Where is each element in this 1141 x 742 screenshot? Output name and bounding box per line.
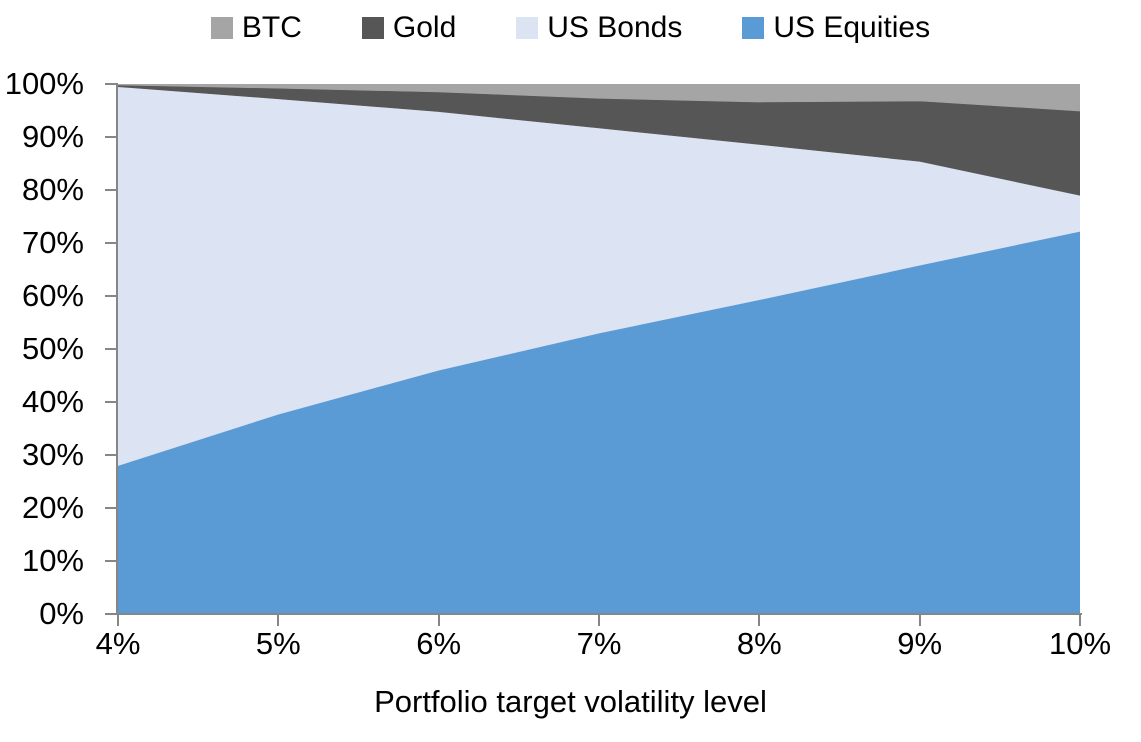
x-axis-title: Portfolio target volatility level bbox=[0, 686, 1141, 717]
y-tick-label: 50% bbox=[22, 333, 84, 364]
plot-wrapper: 0%10%20%30%40%50%60%70%80%90%100% 4%5%6%… bbox=[0, 0, 1141, 742]
x-tick-label: 5% bbox=[256, 628, 301, 659]
x-tick bbox=[919, 615, 921, 626]
x-tick-label: 6% bbox=[416, 628, 461, 659]
x-tick-label: 4% bbox=[96, 628, 141, 659]
y-tick bbox=[105, 454, 116, 456]
y-tick bbox=[105, 401, 116, 403]
x-tick bbox=[598, 615, 600, 626]
y-tick bbox=[105, 613, 116, 615]
plot-area bbox=[118, 84, 1080, 614]
y-tick-label: 70% bbox=[22, 227, 84, 258]
y-tick bbox=[105, 136, 116, 138]
y-tick bbox=[105, 560, 116, 562]
x-tick bbox=[277, 615, 279, 626]
stacked-area-chart: BTC Gold US Bonds US Equities 0%10%20%30… bbox=[0, 0, 1141, 742]
y-tick bbox=[105, 348, 116, 350]
x-tick-label: 10% bbox=[1049, 628, 1111, 659]
x-tick bbox=[758, 615, 760, 626]
y-tick-label: 20% bbox=[22, 492, 84, 523]
area-series-svg bbox=[118, 84, 1080, 614]
x-tick-label: 9% bbox=[897, 628, 942, 659]
x-tick-label: 8% bbox=[737, 628, 782, 659]
y-tick bbox=[105, 189, 116, 191]
y-tick bbox=[105, 242, 116, 244]
y-axis-line bbox=[116, 83, 118, 615]
y-tick-label: 40% bbox=[22, 386, 84, 417]
x-tick bbox=[438, 615, 440, 626]
x-tick bbox=[1079, 615, 1081, 626]
y-tick-label: 60% bbox=[22, 280, 84, 311]
y-tick bbox=[105, 83, 116, 85]
x-tick-label: 7% bbox=[577, 628, 622, 659]
y-tick-label: 100% bbox=[5, 68, 84, 99]
y-tick bbox=[105, 295, 116, 297]
y-tick-label: 0% bbox=[39, 598, 84, 629]
y-tick bbox=[105, 507, 116, 509]
x-tick bbox=[117, 615, 119, 626]
y-tick-label: 30% bbox=[22, 439, 84, 470]
y-tick-label: 80% bbox=[22, 174, 84, 205]
y-tick-label: 10% bbox=[22, 545, 84, 576]
y-tick-label: 90% bbox=[22, 121, 84, 152]
